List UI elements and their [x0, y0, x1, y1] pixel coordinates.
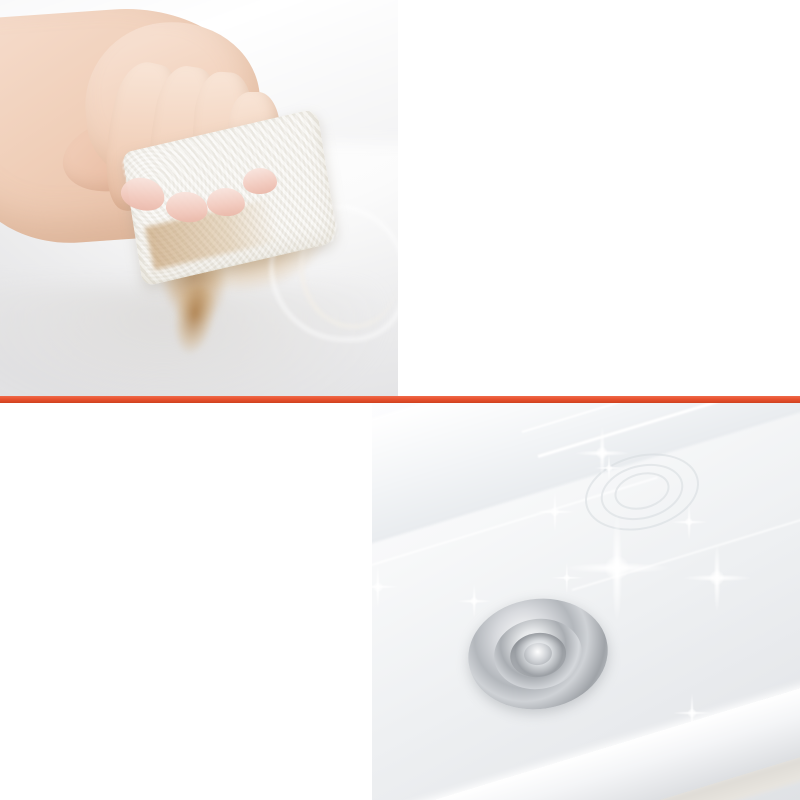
sparkle-icon — [456, 583, 492, 619]
infographic-board: EASY TO CLEAN Non - porous, stain - resi… — [0, 0, 800, 800]
section-divider — [0, 396, 800, 403]
porcelain-sink-surface — [372, 403, 800, 800]
glossy-sink-drain-photo — [372, 403, 800, 800]
sink-drain — [461, 590, 615, 718]
fingernail — [243, 167, 278, 194]
sparkle-icon — [372, 565, 400, 609]
hand-wiping-coffee-spill-photo — [0, 0, 398, 397]
easy-to-clean-panel: EASY TO CLEAN Non - porous, stain - resi… — [398, 0, 800, 397]
countertop-surface — [0, 0, 398, 397]
timeless-shine-panel: TIMELESS SHINE Our durable porcelain gla… — [0, 403, 372, 800]
sparkle-icon — [550, 561, 584, 595]
sink-top-band — [372, 403, 800, 558]
